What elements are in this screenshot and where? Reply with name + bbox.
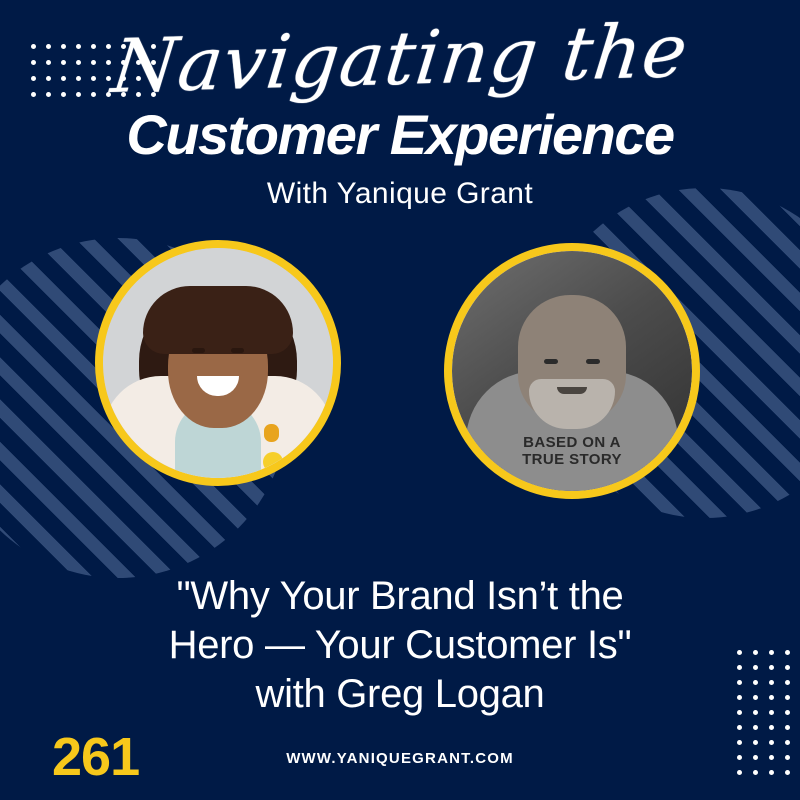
grid-dot bbox=[769, 695, 774, 700]
host-byline: With Yanique Grant bbox=[0, 177, 800, 211]
episode-title-line-1: "Why Your Brand Isn’t the bbox=[60, 572, 740, 621]
show-title-script: Navigating the bbox=[0, 11, 800, 107]
grid-dot bbox=[753, 680, 758, 685]
grid-dot bbox=[785, 650, 790, 655]
guest-mouth bbox=[557, 387, 587, 394]
grid-dot bbox=[753, 725, 758, 730]
grid-dot bbox=[769, 725, 774, 730]
grid-dot bbox=[769, 650, 774, 655]
guest-shirt-text-line2: TRUE STORY bbox=[522, 451, 622, 468]
grid-dot bbox=[769, 710, 774, 715]
grid-dot bbox=[753, 740, 758, 745]
grid-dot bbox=[769, 665, 774, 670]
grid-dot bbox=[753, 650, 758, 655]
episode-title: "Why Your Brand Isn’t the Hero — Your Cu… bbox=[60, 572, 740, 718]
grid-dot bbox=[785, 680, 790, 685]
grid-dot bbox=[737, 770, 742, 775]
guest-shirt-text-line1: BASED ON A bbox=[523, 434, 621, 451]
cover-header: Navigating the Customer Experience With … bbox=[0, 0, 800, 211]
host-lapel-pin-smiley-icon bbox=[263, 452, 283, 472]
host-hair-front bbox=[143, 286, 293, 354]
guest-eye-right bbox=[586, 359, 600, 364]
grid-dot bbox=[753, 770, 758, 775]
grid-dot bbox=[769, 680, 774, 685]
podcast-cover: Navigating the Customer Experience With … bbox=[0, 0, 800, 800]
guest-photo: BASED ON A TRUE STORY bbox=[452, 251, 692, 491]
grid-dot bbox=[785, 770, 790, 775]
host-photo bbox=[103, 248, 333, 478]
guest-eye-left bbox=[544, 359, 558, 364]
grid-dot bbox=[753, 695, 758, 700]
grid-dot bbox=[753, 710, 758, 715]
grid-dot bbox=[737, 725, 742, 730]
website-url: WWW.YANIQUEGRANT.COM bbox=[0, 750, 800, 767]
grid-dot bbox=[785, 710, 790, 715]
host-eye-left bbox=[192, 348, 205, 353]
grid-dot bbox=[785, 740, 790, 745]
show-title-bold: Customer Experience bbox=[0, 106, 800, 165]
grid-dot bbox=[785, 665, 790, 670]
grid-dot bbox=[769, 770, 774, 775]
guest-shirt-text: BASED ON A TRUE STORY bbox=[522, 434, 622, 469]
grid-dot bbox=[753, 665, 758, 670]
grid-dot bbox=[785, 695, 790, 700]
host-eye-right bbox=[231, 348, 244, 353]
guest-portrait: BASED ON A TRUE STORY bbox=[444, 243, 700, 499]
episode-title-line-3: with Greg Logan bbox=[60, 670, 740, 719]
host-lapel-pin-bear-icon bbox=[264, 424, 279, 442]
grid-dot bbox=[737, 740, 742, 745]
grid-dot bbox=[785, 725, 790, 730]
grid-dot bbox=[769, 740, 774, 745]
episode-title-line-2: Hero — Your Customer Is" bbox=[60, 621, 740, 670]
host-portrait bbox=[95, 240, 341, 486]
